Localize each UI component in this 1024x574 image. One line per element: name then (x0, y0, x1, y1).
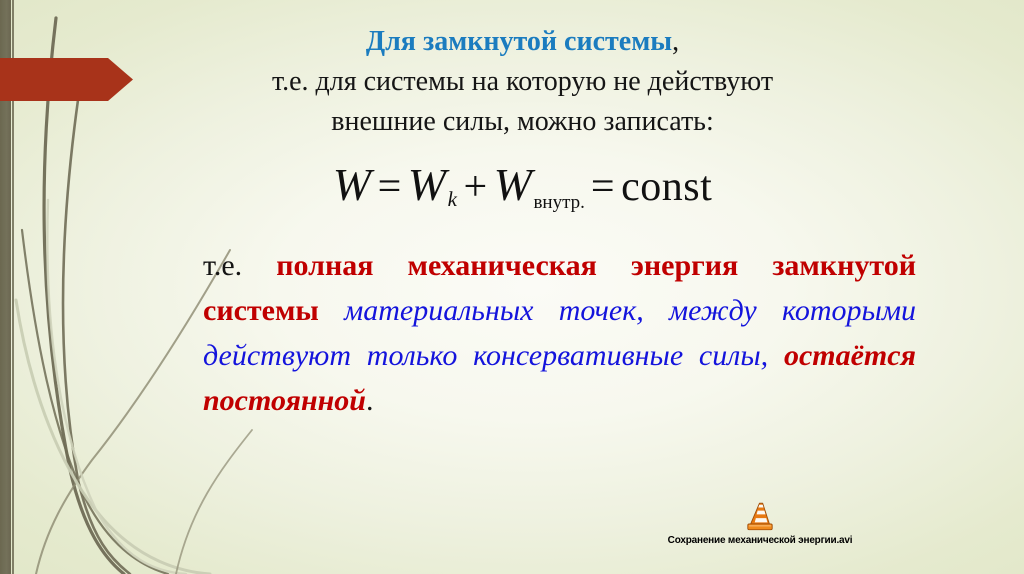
formula-w: W (333, 159, 372, 210)
formula-const: const (621, 164, 712, 210)
heading-highlight: Для замкнутой системы (366, 26, 672, 57)
body-run-prefix: т.е. (203, 249, 242, 282)
heading-line-1: Для замкнутой системы, (155, 22, 890, 62)
formula-equals-1: = (372, 164, 408, 210)
body-paragraph: т.е. полная механическая энергия замкнут… (203, 243, 916, 423)
heading-block: Для замкнутой системы, т.е. для системы … (155, 22, 890, 142)
heading-comma: , (672, 26, 679, 57)
body-run-period: . (366, 384, 374, 417)
heading-line-3: внешние силы, можно записать: (155, 102, 890, 142)
presentation-slide: Для замкнутой системы, т.е. для системы … (0, 0, 1024, 574)
formula-wv: W (494, 159, 533, 210)
vlc-cone-icon[interactable] (743, 500, 777, 534)
slide-content: Для замкнутой системы, т.е. для системы … (0, 0, 1024, 574)
energy-conservation-formula: W=Wk+Wвнутр.=const (155, 158, 890, 214)
media-caption: Сохранение механической энергии.avi (612, 535, 908, 546)
heading-line-2: т.е. для системы на которую не действуют (155, 62, 890, 102)
formula-wv-subscript: внутр. (532, 192, 584, 213)
formula-equals-2: = (585, 164, 621, 210)
formula-wk-subscript: k (447, 187, 458, 211)
media-shortcut[interactable]: Сохранение механической энергии.avi (612, 500, 908, 546)
formula-plus: + (457, 164, 493, 210)
formula-wk: W (408, 159, 447, 210)
